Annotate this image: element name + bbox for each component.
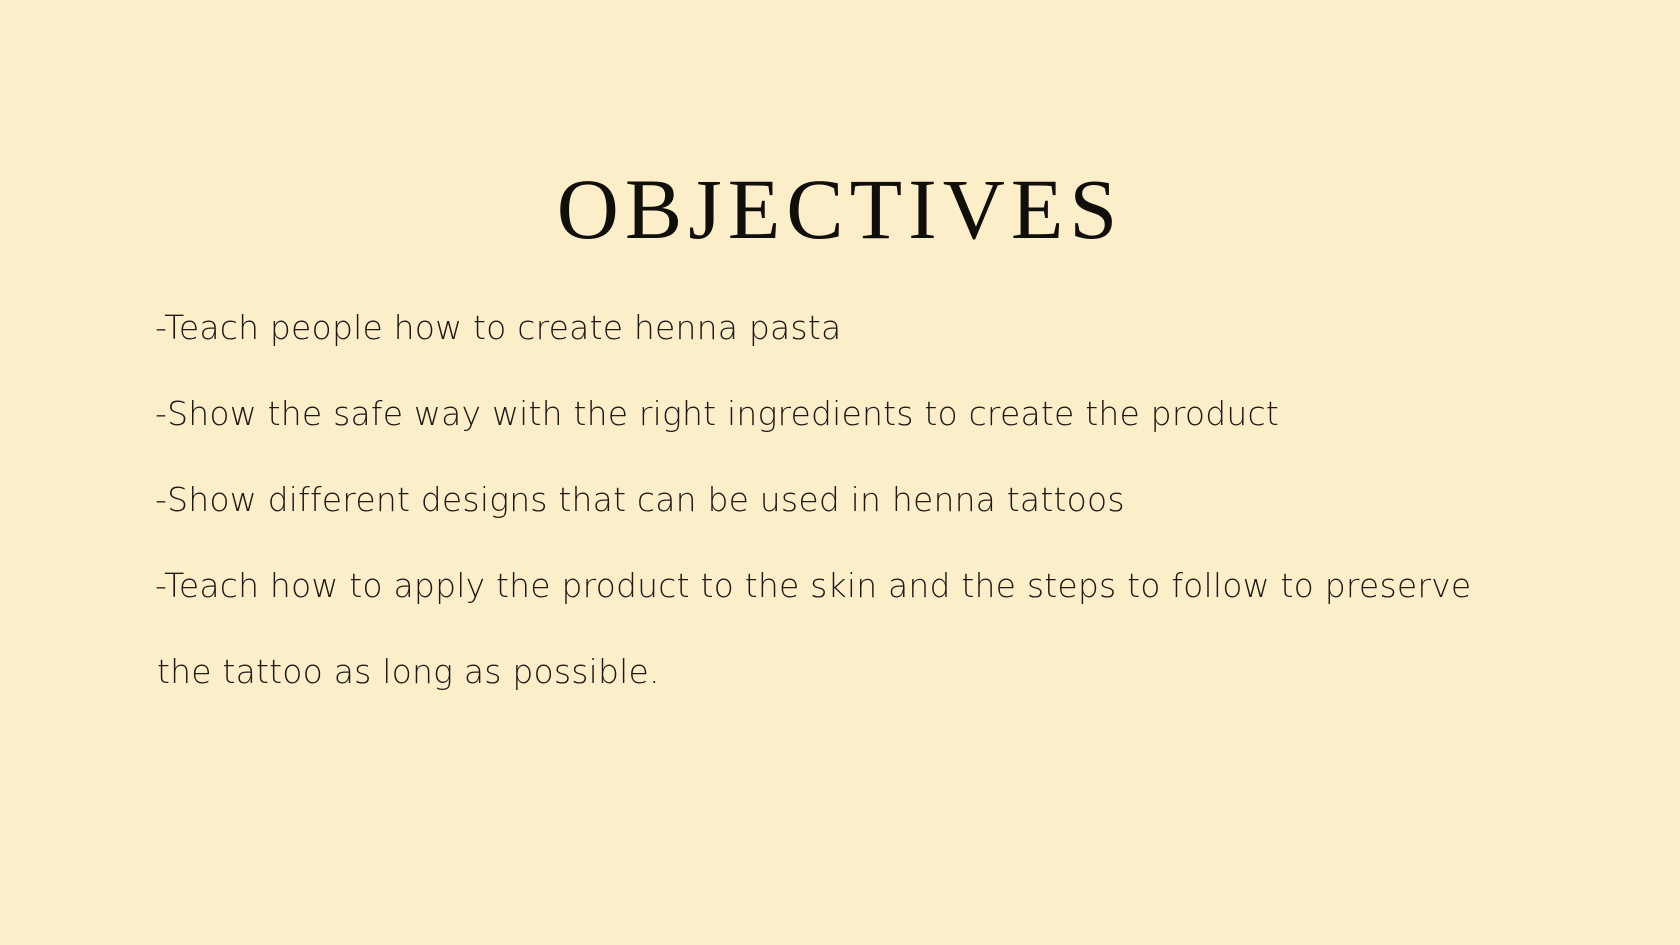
presentation-slide: OBJECTIVES -Teach people how to create h… [0,0,1680,945]
list-item-continuation: the tattoo as long as possible. [155,629,1575,715]
list-item: -Teach how to apply the product to the s… [155,543,1575,629]
list-item: -Show the safe way with the right ingred… [155,371,1575,457]
objectives-list: -Teach people how to create henna pasta … [155,285,1575,715]
list-item: -Teach people how to create henna pasta [155,285,1575,371]
list-item: -Show different designs that can be used… [155,457,1575,543]
page-title: OBJECTIVES [0,166,1680,252]
